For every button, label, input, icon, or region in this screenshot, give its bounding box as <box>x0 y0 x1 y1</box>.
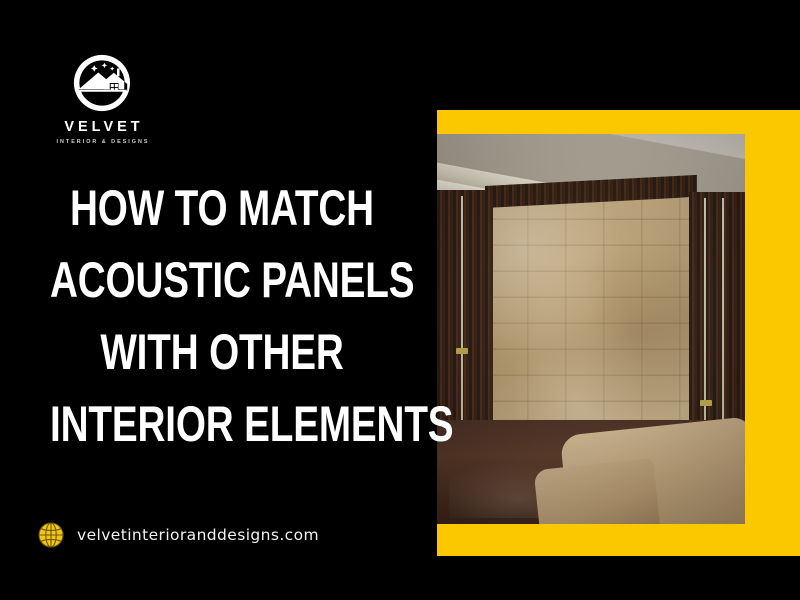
brand-name: VELVET <box>36 120 168 135</box>
brand-logo: VELVET INTERIOR & DESIGNS <box>36 52 168 145</box>
stone-wall <box>489 198 689 428</box>
panel-clip-right-upper <box>700 400 712 406</box>
photo-inner <box>437 134 745 524</box>
brand-tagline: INTERIOR & DESIGNS <box>36 140 168 145</box>
headline-line-3: WITH OTHER <box>50 312 394 393</box>
accent-bar-right <box>745 110 800 556</box>
website-url[interactable]: velvetinterioranddesigns.com <box>77 526 319 544</box>
sofa-arm <box>534 458 661 524</box>
headline-line-1: HOW TO MATCH <box>50 168 394 249</box>
website-footer[interactable]: velvetinterioranddesigns.com <box>38 518 319 552</box>
page-title: HOW TO MATCH ACOUSTIC PANELS WITH OTHER … <box>22 172 422 460</box>
globe-icon <box>38 522 64 548</box>
text-column: VELVET INTERIOR & DESIGNS HOW TO MATCH A… <box>0 0 437 600</box>
headline-line-4: INTERIOR ELEMENTS <box>50 384 394 465</box>
headline-line-2: ACOUSTIC PANELS <box>50 240 394 321</box>
house-in-circle-logo-icon <box>71 52 133 114</box>
thumbnail-canvas: VELVET INTERIOR & DESIGNS HOW TO MATCH A… <box>0 0 800 600</box>
panel-clip-left-upper <box>456 348 468 354</box>
interior-photo <box>437 134 745 524</box>
